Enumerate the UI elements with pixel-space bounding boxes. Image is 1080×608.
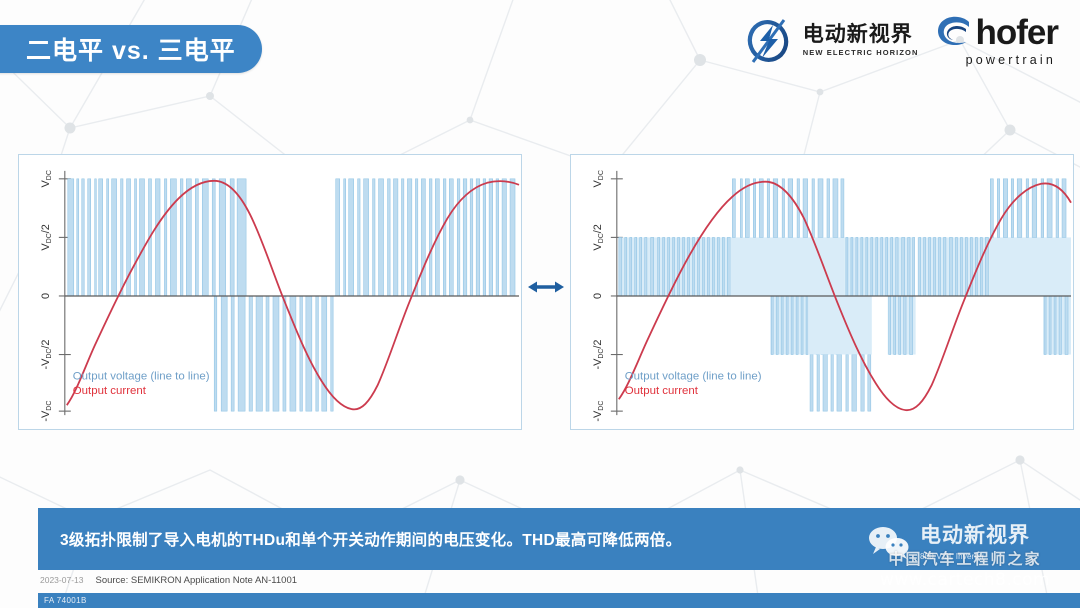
footer-row: 2023-07-13 Source: SEMIKRON Application … bbox=[40, 575, 297, 586]
chart-three-level-svg: VDC VDC/2 0 -VDC/2 -VDC bbox=[571, 155, 1073, 429]
logo-hofer-sub: powertrain bbox=[966, 53, 1056, 67]
logo-deh-english: NEW ELECTRIC HORIZON bbox=[803, 49, 919, 57]
footer-code-bar: FA 74001B bbox=[38, 593, 1080, 608]
footer-source: Source: SEMIKRON Application Note AN-110… bbox=[95, 575, 297, 586]
ytick-zero-left: 0 bbox=[40, 293, 52, 299]
electric-bolt-circle-icon bbox=[740, 18, 796, 64]
chart-three-level: VDC VDC/2 0 -VDC/2 -VDC bbox=[570, 154, 1074, 430]
logo-area: 电动新视界 NEW ELECTRIC HORIZON hofer powertr… bbox=[740, 14, 1058, 67]
legend-current-left: Output current bbox=[73, 385, 147, 397]
caption-text: 3级拓扑限制了导入电机的THDu和单个开关动作期间的电压变化。THD最高可降低两… bbox=[38, 528, 681, 550]
chart-two-level: VDC VDC/2 0 -VDC/2 -VDC bbox=[18, 154, 522, 430]
legend-voltage-left: Output voltage (line to line) bbox=[73, 370, 210, 382]
logo-new-electric-horizon: 电动新视界 NEW ELECTRIC HORIZON bbox=[740, 18, 919, 64]
footer-date: 2023-07-13 bbox=[40, 575, 83, 585]
legend-current-right: Output current bbox=[625, 385, 699, 397]
page-title: 二电平 vs. 三电平 bbox=[26, 31, 236, 67]
caption-bar: 3级拓扑限制了导入电机的THDu和单个开关动作期间的电压变化。THD最高可降低两… bbox=[38, 508, 1080, 570]
chart-two-level-svg: VDC VDC/2 0 -VDC/2 -VDC bbox=[19, 155, 521, 429]
watermark-cartech-url: www.cartech8.com bbox=[880, 570, 1050, 590]
slide-root: 二电平 vs. 三电平 电动新视界 NEW ELECTRIC HORIZON bbox=[0, 0, 1080, 608]
footer-document-code: FA 74001B bbox=[38, 596, 87, 605]
hofer-swoosh-icon bbox=[933, 14, 975, 52]
double-arrow-horizontal-icon bbox=[526, 275, 566, 299]
ytick-zero-right: 0 bbox=[592, 293, 604, 299]
logo-deh-chinese: 电动新视界 bbox=[803, 24, 919, 45]
logo-hofer-word: hofer bbox=[976, 16, 1059, 49]
title-banner: 二电平 vs. 三电平 bbox=[0, 25, 262, 73]
legend-voltage-right: Output voltage (line to line) bbox=[625, 370, 762, 382]
logo-hofer-powertrain: hofer powertrain bbox=[933, 14, 1059, 67]
